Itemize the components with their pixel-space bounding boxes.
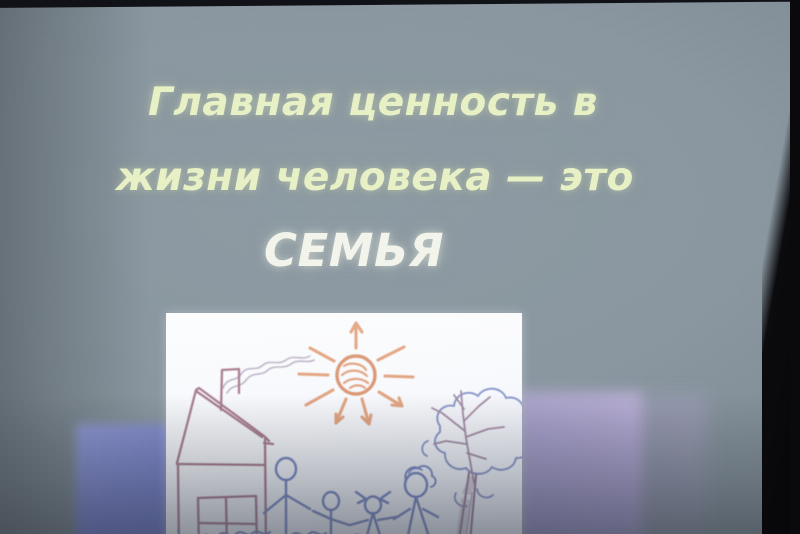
illustration-card xyxy=(166,313,522,534)
slide-title-emphasis: СЕМЬЯ xyxy=(264,224,444,277)
figure-daughter xyxy=(350,492,396,534)
family-figures xyxy=(264,458,438,534)
childrens-drawing xyxy=(166,313,522,534)
slide-title-line-2: жизни человека — это xyxy=(116,155,634,200)
light-spill-right xyxy=(520,392,642,534)
slide-title-line-1: Главная ценность в xyxy=(148,80,598,125)
house-icon xyxy=(177,369,273,534)
screen-top-edge xyxy=(0,0,790,8)
sun-icon xyxy=(299,323,413,424)
photo-frame: Главная ценность в жизни человека — это … xyxy=(0,0,800,534)
projection-screen: Главная ценность в жизни человека — это … xyxy=(0,0,790,534)
figure-mother xyxy=(394,466,438,534)
figure-father xyxy=(264,458,310,534)
tree-icon xyxy=(422,389,522,534)
screen-right-edge xyxy=(762,0,790,534)
figure-child xyxy=(313,492,349,534)
